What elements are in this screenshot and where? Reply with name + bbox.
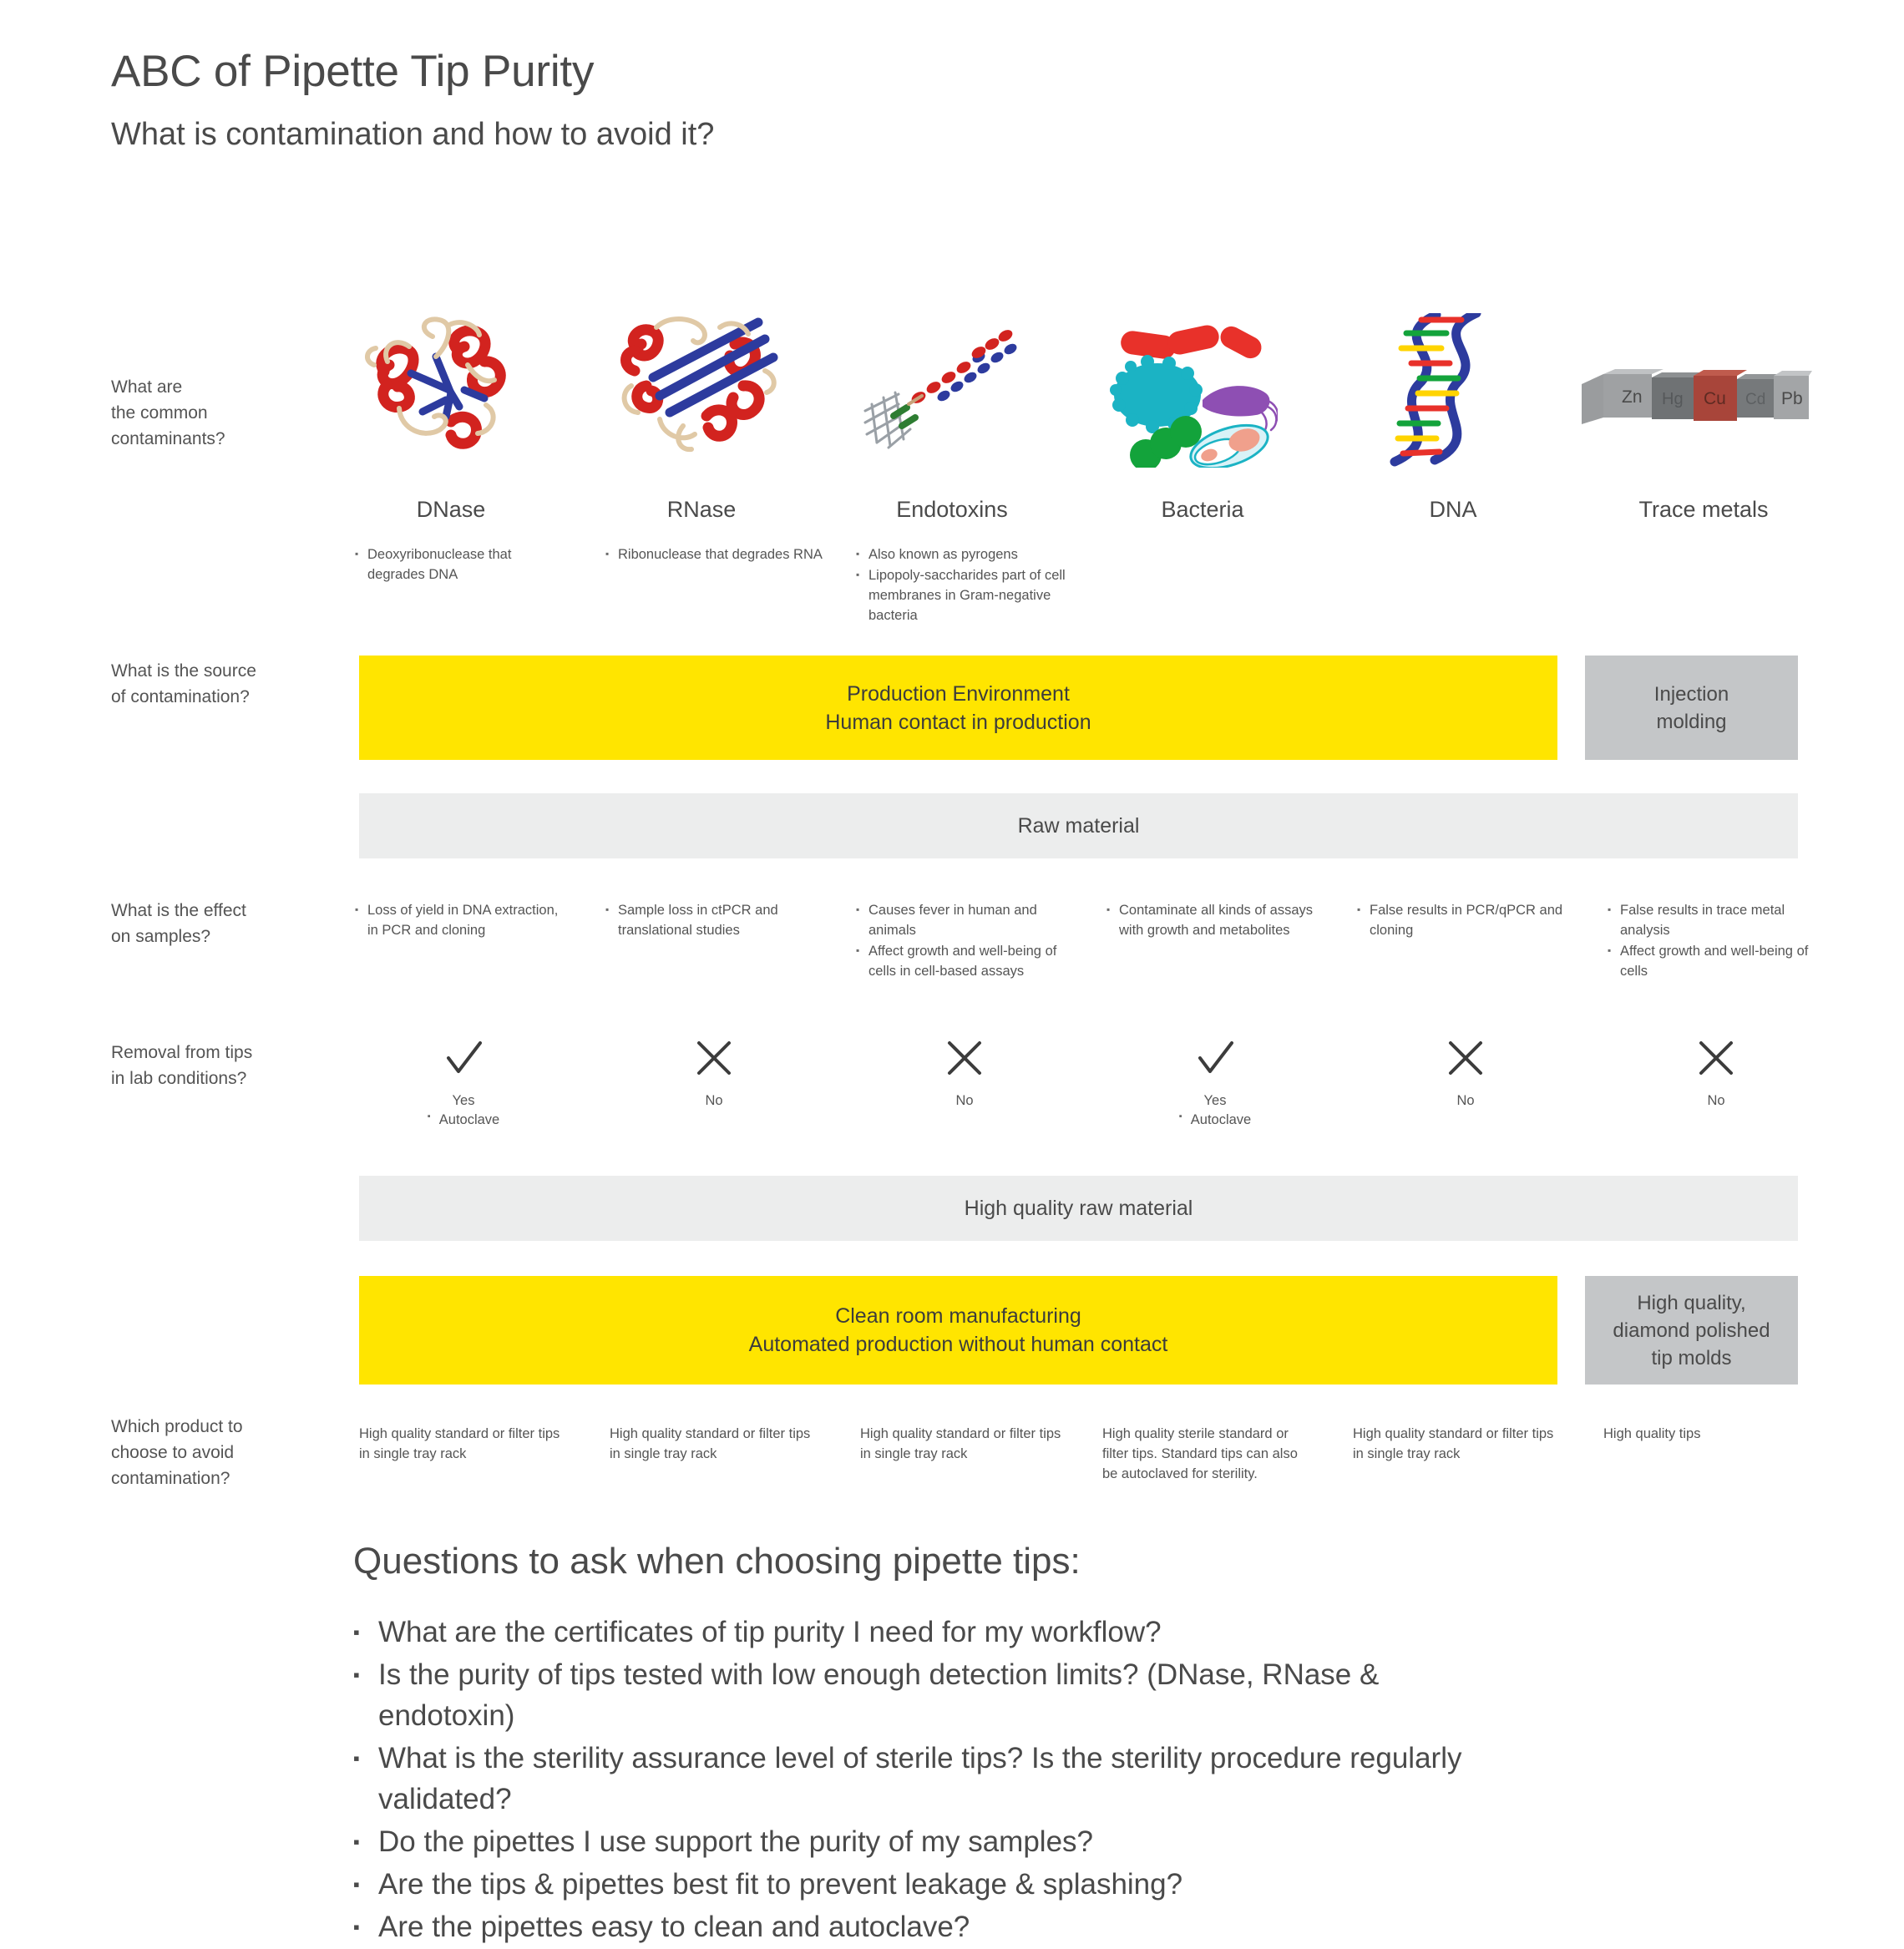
bacteria-icon xyxy=(1102,313,1278,472)
infographic-page: ABC of Pipette Tip Purity What is contam… xyxy=(0,0,1904,1904)
raw-material-bar: Raw material xyxy=(359,793,1798,858)
contaminant-name-bacteria: Bacteria xyxy=(1086,497,1319,523)
removal-detail: Autoclave xyxy=(1179,1112,1251,1128)
contaminant-name-dna: DNA xyxy=(1336,497,1570,523)
removal-dnase: Yes Autoclave xyxy=(397,1038,530,1128)
contaminant-desc-rnase: Ribonuclease that degrades RNA xyxy=(605,544,823,565)
removal-answer: No xyxy=(898,1093,1031,1109)
questions-list: What are the certificates of tip purity … xyxy=(353,1612,1522,1949)
row-label-contaminants: What are the common contaminants? xyxy=(111,374,311,452)
effect-dna: False results in PCR/qPCR and cloning xyxy=(1357,900,1574,941)
removal-detail: Autoclave xyxy=(428,1112,499,1128)
row-label-removal: Removal from tips in lab conditions? xyxy=(111,1040,311,1091)
source-production-bar: Production Environment Human contact in … xyxy=(359,656,1557,760)
removal-trace-metals: No xyxy=(1649,1038,1783,1109)
protein-ribbon-icon-dnase xyxy=(359,313,534,468)
effect-trace-metals: False results in trace metal analysis Af… xyxy=(1608,900,1825,982)
removal-rnase: No xyxy=(647,1038,781,1109)
check-icon xyxy=(397,1038,530,1081)
removal-bacteria: Yes Autoclave xyxy=(1148,1038,1282,1128)
svg-text:Zn: Zn xyxy=(1622,387,1643,407)
effect-rnase: Sample loss in ctPCR and translational s… xyxy=(605,900,823,941)
cross-icon xyxy=(647,1038,781,1081)
effect-bacteria: Contaminate all kinds of assays with gro… xyxy=(1106,900,1324,941)
question-item: What is the sterility assurance level of… xyxy=(353,1738,1522,1820)
product-dna: High quality standard or filter tips in … xyxy=(1353,1424,1562,1464)
product-rnase: High quality standard or filter tips in … xyxy=(610,1424,818,1464)
question-item: Do the pipettes I use support the purity… xyxy=(353,1821,1522,1862)
svg-text:Cu: Cu xyxy=(1704,389,1726,408)
check-icon xyxy=(1148,1038,1282,1081)
page-title: ABC of Pipette Tip Purity xyxy=(111,46,594,97)
questions-title: Questions to ask when choosing pipette t… xyxy=(353,1541,1081,1582)
removal-answer: Yes xyxy=(1148,1093,1282,1109)
product-endotoxins: High quality standard or filter tips in … xyxy=(860,1424,1069,1464)
question-item: What are the certificates of tip purity … xyxy=(353,1612,1522,1653)
tip-molds-box: High quality, diamond polished tip molds xyxy=(1585,1276,1798,1385)
row-label-source: What is the source of contamination? xyxy=(111,658,311,710)
removal-answer: No xyxy=(1399,1093,1532,1109)
svg-text:Pb: Pb xyxy=(1781,389,1803,408)
cross-icon xyxy=(1649,1038,1783,1081)
removal-answer: No xyxy=(1649,1093,1783,1109)
cross-icon xyxy=(1399,1038,1532,1081)
question-item: Is the purity of tips tested with low en… xyxy=(353,1654,1522,1736)
contaminant-name-dnase: DNase xyxy=(334,497,568,523)
removal-endotoxins: No xyxy=(898,1038,1031,1109)
contaminant-desc-dnase: Deoxyribonuclease that degrades DNA xyxy=(355,544,572,585)
svg-text:Hg: Hg xyxy=(1662,390,1684,408)
row-label-effect: What is the effect on samples? xyxy=(111,898,311,949)
page-subtitle: What is contamination and how to avoid i… xyxy=(111,117,714,153)
product-trace-metals: High quality tips xyxy=(1603,1424,1812,1444)
effect-endotoxins: Causes fever in human and animals Affect… xyxy=(856,900,1073,982)
contaminant-name-rnase: RNase xyxy=(585,497,818,523)
high-quality-raw-material-bar: High quality raw material xyxy=(359,1176,1798,1241)
endotoxin-chain-icon xyxy=(860,317,1031,455)
removal-answer: No xyxy=(647,1093,781,1109)
svg-text:Cd: Cd xyxy=(1745,391,1765,408)
cleanroom-bar: Clean room manufacturing Automated produ… xyxy=(359,1276,1557,1385)
question-item: Are the pipettes easy to clean and autoc… xyxy=(353,1906,1522,1947)
source-injection-molding-box: Injection molding xyxy=(1585,656,1798,760)
contaminant-desc-endotoxins: Also known as pyrogens Lipopoly-sacchari… xyxy=(856,544,1073,626)
question-item: Are the tips & pipettes best fit to prev… xyxy=(353,1864,1522,1905)
protein-ribbon-icon-rnase xyxy=(610,309,789,463)
removal-answer: Yes xyxy=(397,1093,530,1109)
dna-helix-icon xyxy=(1370,313,1520,472)
metal-blocks-icon: Zn Hg Cu Cd Pb xyxy=(1578,366,1812,433)
contaminant-name-endotoxins: Endotoxins xyxy=(835,497,1069,523)
cross-icon xyxy=(898,1038,1031,1081)
product-dnase: High quality standard or filter tips in … xyxy=(359,1424,568,1464)
row-label-product: Which product to choose to avoid contami… xyxy=(111,1414,311,1491)
contaminant-name-trace-metals: Trace metals xyxy=(1587,497,1820,523)
effect-dnase: Loss of yield in DNA extraction, in PCR … xyxy=(355,900,572,941)
product-bacteria: High quality sterile standard or filter … xyxy=(1102,1424,1311,1484)
removal-dna: No xyxy=(1399,1038,1532,1109)
